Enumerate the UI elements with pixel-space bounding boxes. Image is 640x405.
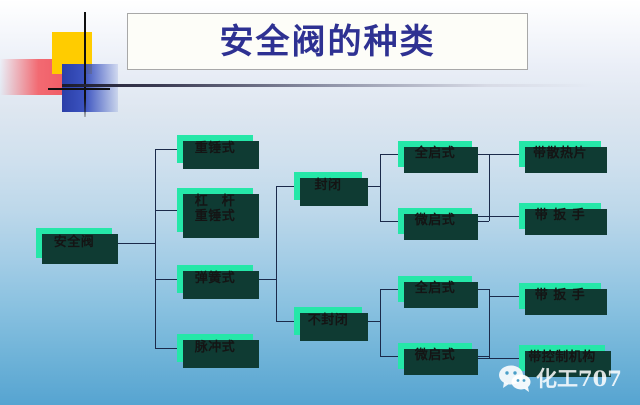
connector-branch bbox=[380, 221, 398, 222]
connector-stem bbox=[489, 296, 519, 297]
connector-stem bbox=[489, 154, 519, 155]
tree-node-l3-4[interactable]: 微启式 bbox=[398, 343, 472, 369]
connector-bus bbox=[489, 154, 490, 221]
tree-node-l4-1[interactable]: 带散热片 bbox=[519, 141, 601, 167]
tree-node-l3-3[interactable]: 全启式 bbox=[398, 276, 472, 302]
connector-bus bbox=[489, 216, 490, 221]
connector-bus bbox=[489, 356, 490, 358]
tree-node-l3-2[interactable]: 微启式 bbox=[398, 208, 472, 234]
tree-node-l1-1[interactable]: 重锤式 bbox=[177, 135, 253, 163]
connector-branch bbox=[155, 279, 177, 280]
connector-bus bbox=[155, 149, 156, 348]
connector-stem bbox=[112, 243, 155, 244]
tree-node-l1-2[interactable]: 杠 杆 重锤式 bbox=[177, 188, 253, 232]
slide-canvas: 安全阀的种类 安全阀重锤式杠 杆 重锤式弹簧式脉冲式封闭不封闭全启式微启式全启式… bbox=[0, 0, 640, 405]
tree-node-root[interactable]: 安全阀 bbox=[36, 228, 112, 258]
connector-bus bbox=[276, 186, 277, 321]
connector-bus bbox=[380, 154, 381, 221]
tree-node-l1-4[interactable]: 脉冲式 bbox=[177, 334, 253, 362]
tree-node-l3-1[interactable]: 全启式 bbox=[398, 141, 472, 167]
connector-branch bbox=[276, 321, 294, 322]
tree-node-l4-3[interactable]: 带 扳 手 bbox=[519, 283, 601, 309]
connector-branch bbox=[276, 186, 294, 187]
connector-branch bbox=[472, 216, 519, 217]
connector-branch bbox=[380, 356, 398, 357]
safety-valve-tree-diagram: 安全阀重锤式杠 杆 重锤式弹簧式脉冲式封闭不封闭全启式微启式全启式微启式带散热片… bbox=[0, 0, 640, 405]
tree-node-l4-4[interactable]: 带控制机构 bbox=[519, 345, 605, 371]
connector-bus bbox=[489, 289, 490, 356]
connector-branch bbox=[380, 154, 398, 155]
connector-branch bbox=[472, 358, 519, 359]
tree-node-l1-3[interactable]: 弹簧式 bbox=[177, 265, 253, 293]
connector-branch bbox=[155, 348, 177, 349]
connector-bus bbox=[380, 289, 381, 356]
tree-node-l2-2[interactable]: 不封闭 bbox=[294, 307, 362, 335]
connector-branch bbox=[155, 210, 177, 211]
connector-branch bbox=[155, 149, 177, 150]
tree-node-l4-2[interactable]: 带 扳 手 bbox=[519, 203, 601, 229]
connector-branch bbox=[380, 289, 398, 290]
tree-node-l2-1[interactable]: 封闭 bbox=[294, 172, 362, 200]
